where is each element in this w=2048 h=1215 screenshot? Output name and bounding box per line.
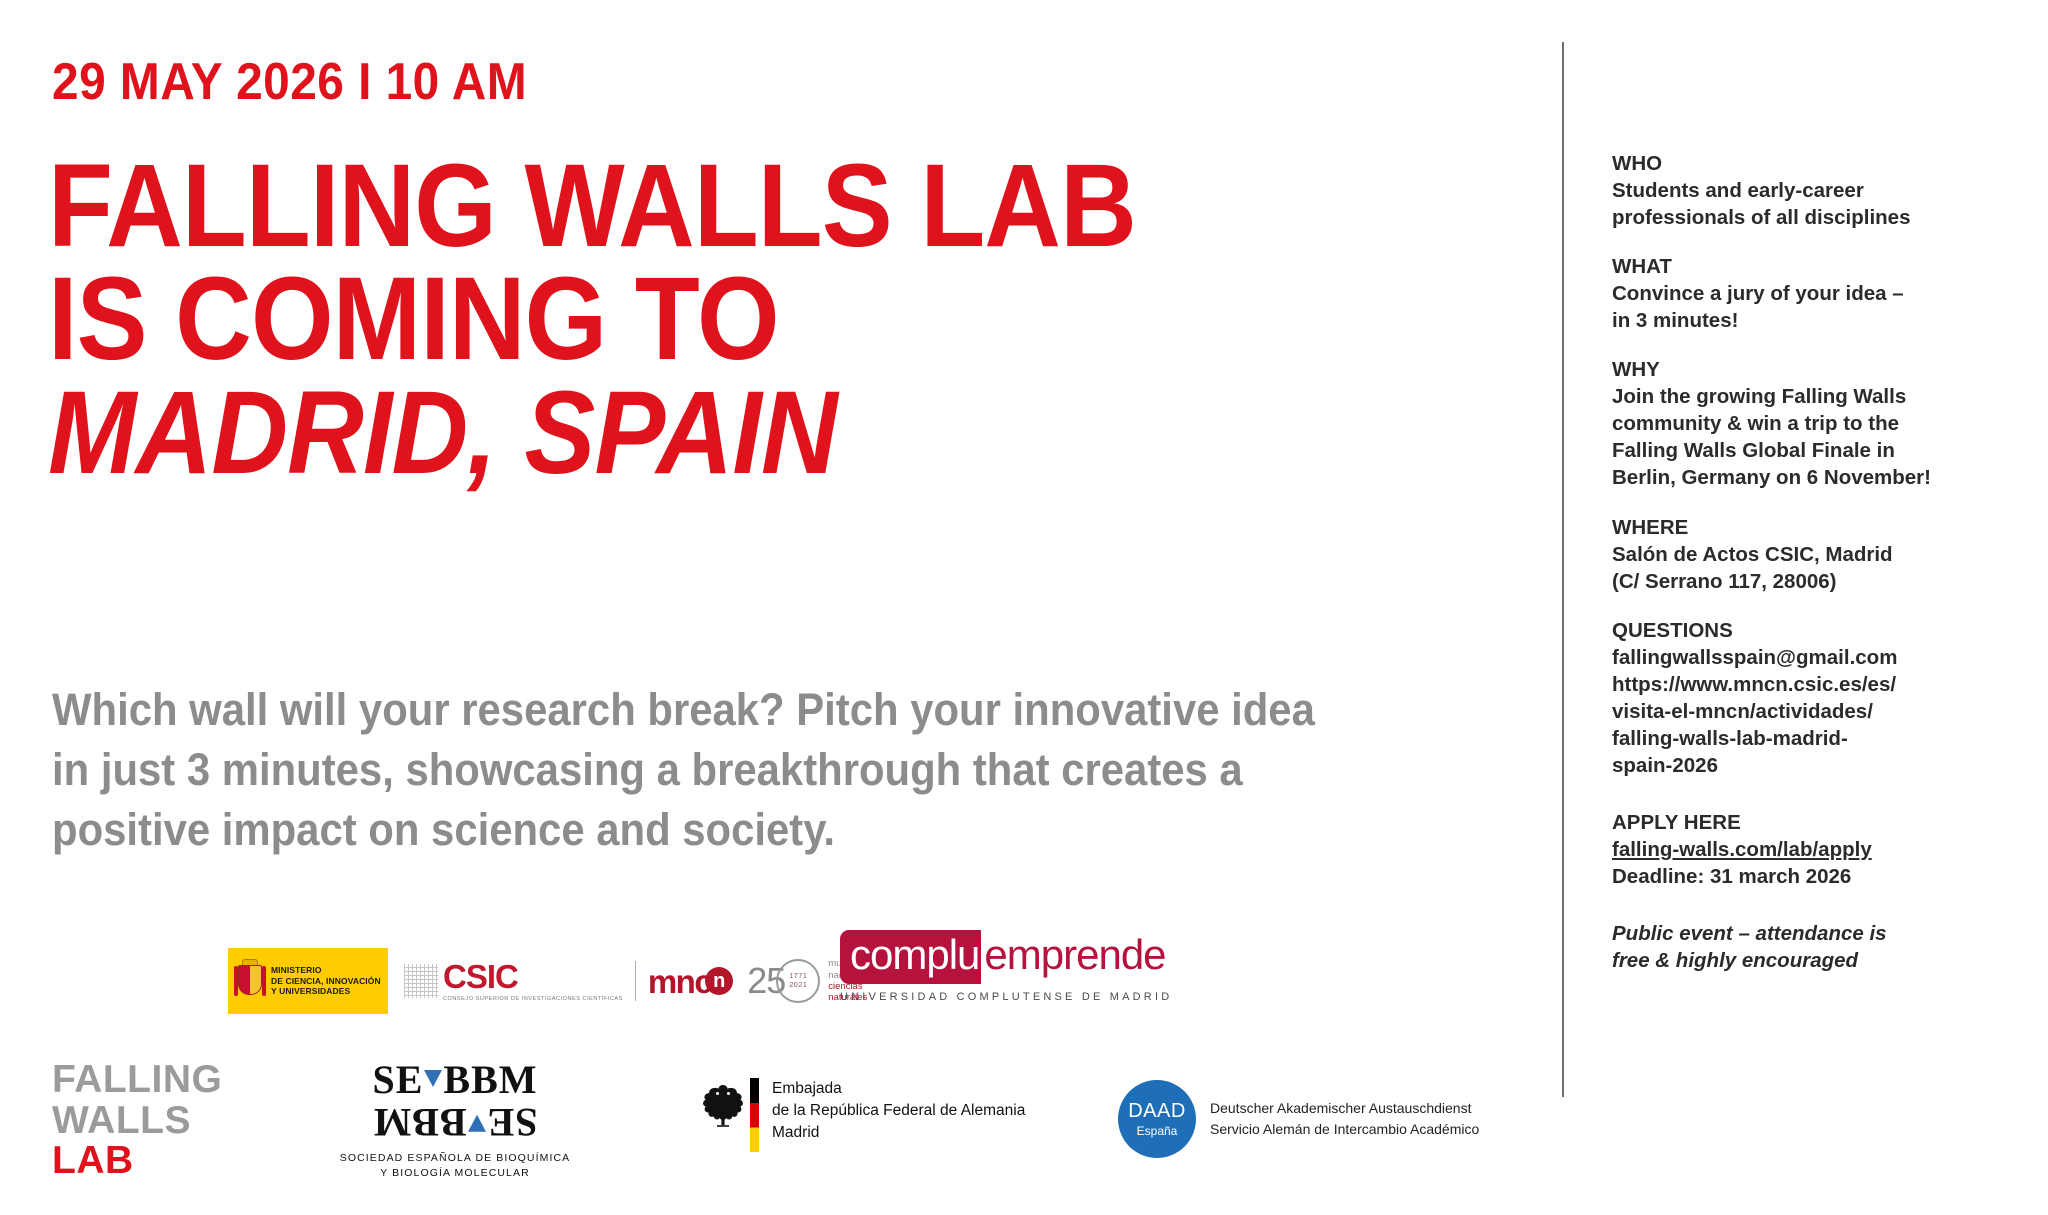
detail-block-apply: APPLY HERE falling-walls.com/lab/apply D… — [1612, 809, 2012, 890]
daad-text: Deutscher Akademischer Austauschdienst S… — [1210, 1098, 1479, 1140]
sebbm-triangle-icon-mirrored — [468, 1115, 486, 1132]
compluemprende-logo: complu emprende UNIVERSIDAD COMPLUTENSE … — [840, 930, 1172, 1003]
german-embassy-logo: Embajada de la República Federal de Alem… — [700, 1078, 1025, 1152]
sebbm-triangle-icon — [424, 1070, 442, 1087]
details-column: WHO Students and early-career profession… — [1612, 150, 2012, 996]
note-line-1: Public event – attendance is — [1612, 920, 2012, 947]
headline: FALLING WALLS LAB IS COMING TO MADRID, S… — [48, 150, 1348, 490]
ministerio-text: MINISTERIO DE CIENCIA, INNOVACIÓN Y UNIV… — [271, 965, 381, 997]
sebbm-subtitle: SOCIEDAD ESPAÑOLA DE BIOQUÍMICA Y BIOLOG… — [330, 1151, 580, 1183]
detail-line: Berlin, Germany on 6 November! — [1612, 464, 2012, 491]
embassy-line-2: de la República Federal de Alemania — [772, 1100, 1025, 1122]
falling-walls-lab-logo: FALLING WALLS LAB — [52, 1060, 222, 1182]
detail-heading: WHAT — [1612, 253, 2012, 280]
apply-heading: APPLY HERE — [1612, 809, 2012, 836]
fw-line-2: WALLS — [52, 1101, 222, 1142]
detail-line: Falling Walls Global Finale in — [1612, 437, 2012, 464]
detail-line: Convince a jury of your idea – — [1612, 280, 2012, 307]
anniversary-ring-icon: 1771 2021 — [776, 959, 820, 1003]
complu-part-2: emprende — [981, 930, 1165, 984]
detail-line: (C/ Serrano 117, 28006) — [1612, 568, 2012, 595]
sebbm-prefix-bottom: SE — [487, 1100, 538, 1145]
public-event-note: Public event – attendance is free & high… — [1612, 920, 2012, 974]
embassy-line-3: Madrid — [772, 1122, 1025, 1144]
detail-heading: WHY — [1612, 356, 2012, 383]
event-date: 29 MAY 2026 I 10 AM — [52, 52, 527, 112]
ministerio-line-2: DE CIENCIA, INNOVACIÓN — [271, 976, 381, 987]
logo-row-institutional: MINISTERIO DE CIENCIA, INNOVACIÓN Y UNIV… — [228, 948, 877, 1014]
detail-block-questions: QUESTIONS fallingwallsspain@gmail.com ht… — [1612, 617, 2012, 779]
embassy-line-1: Embajada — [772, 1078, 1025, 1100]
ministerio-line-3: Y UNIVERSIDADES — [271, 986, 381, 997]
detail-line: community & win a trip to the — [1612, 410, 2012, 437]
mncn-wordmark: mnc — [648, 965, 711, 998]
detail-line: professionals of all disciplines — [1612, 204, 2012, 231]
headline-line-1: FALLING WALLS LAB — [48, 150, 1218, 263]
fw-line-3: LAB — [52, 1141, 222, 1182]
detail-heading: QUESTIONS — [1612, 617, 2012, 644]
detail-block-why: WHY Join the growing Falling Walls commu… — [1612, 356, 2012, 491]
csic-logo: CSIC Consejo Superior de Investigaciones… — [404, 960, 623, 1002]
detail-line: Students and early-career — [1612, 177, 2012, 204]
sebbm-mark-top: SEBBM — [330, 1060, 580, 1101]
detail-block-what: WHAT Convince a jury of your idea – in 3… — [1612, 253, 2012, 334]
info-url-line[interactable]: falling-walls-lab-madrid- — [1612, 725, 2012, 752]
fw-line-1: FALLING — [52, 1060, 222, 1101]
anniversary-year-to: 2021 — [789, 981, 807, 990]
sebbm-logo: SEBBM SEBBM SOCIEDAD ESPAÑOLA DE BIOQUÍM… — [330, 1060, 580, 1182]
headline-line-3: MADRID, SPAIN — [48, 377, 1218, 490]
sebbm-suffix-top: BBM — [443, 1057, 537, 1102]
daad-line-2: Servicio Alemán de Intercambio Académico — [1210, 1119, 1479, 1140]
detail-block-who: WHO Students and early-career profession… — [1612, 150, 2012, 231]
sebbm-subtitle-line-1: SOCIEDAD ESPAÑOLA DE BIOQUÍMICA — [330, 1151, 580, 1167]
daad-line-1: Deutscher Akademischer Austauschdienst — [1210, 1098, 1479, 1119]
info-url-line[interactable]: visita-el-mncn/actividades/ — [1612, 698, 2012, 725]
detail-line: in 3 minutes! — [1612, 307, 2012, 334]
german-flag-bar-icon — [750, 1078, 759, 1152]
intro-paragraph: Which wall will your research break? Pit… — [52, 680, 1354, 860]
info-url-line[interactable]: spain-2026 — [1612, 752, 2012, 779]
detail-heading: WHERE — [1612, 514, 2012, 541]
sebbm-prefix-top: SE — [372, 1057, 423, 1102]
spain-coat-of-arms-icon — [234, 958, 266, 1004]
headline-line-2: IS COMING TO — [48, 263, 1218, 376]
csic-pattern-icon — [404, 964, 438, 998]
detail-block-where: WHERE Salón de Actos CSIC, Madrid (C/ Se… — [1612, 514, 2012, 595]
sebbm-mark-mirrored: SEBBM — [330, 1101, 580, 1142]
apply-link[interactable]: falling-walls.com/lab/apply — [1612, 836, 2012, 863]
daad-country: España — [1137, 1125, 1178, 1137]
daad-circle-icon: DAAD España — [1118, 1080, 1196, 1158]
sebbm-subtitle-line-2: Y BIOLOGÍA MOLECULAR — [330, 1166, 580, 1182]
poster: 29 MAY 2026 I 10 AM FALLING WALLS LAB IS… — [0, 0, 2048, 1215]
detail-line: Join the growing Falling Walls — [1612, 383, 2012, 410]
complu-subtitle: UNIVERSIDAD COMPLUTENSE DE MADRID — [840, 991, 1172, 1003]
complu-part-1: complu — [840, 930, 981, 984]
daad-acronym: DAAD — [1128, 1101, 1186, 1121]
left-column: 29 MAY 2026 I 10 AM FALLING WALLS LAB IS… — [0, 0, 1560, 1215]
info-url-line[interactable]: https://www.mncn.csic.es/es/ — [1612, 671, 2012, 698]
federal-eagle-icon — [700, 1080, 746, 1128]
note-line-2: free & highly encouraged — [1612, 947, 2012, 974]
csic-subtitle: Consejo Superior de Investigaciones Cien… — [443, 996, 623, 1002]
sebbm-suffix-bottom: BBM — [372, 1100, 466, 1145]
logo-divider — [635, 961, 636, 1001]
vertical-divider — [1562, 42, 1564, 1097]
apply-deadline: Deadline: 31 march 2026 — [1612, 863, 2012, 890]
embassy-text: Embajada de la República Federal de Alem… — [772, 1078, 1025, 1144]
ministerio-logo: MINISTERIO DE CIENCIA, INNOVACIÓN Y UNIV… — [228, 948, 388, 1014]
csic-wordmark: CSIC — [443, 960, 623, 993]
detail-heading: WHO — [1612, 150, 2012, 177]
daad-logo: DAAD España Deutscher Akademischer Austa… — [1118, 1080, 1479, 1158]
mncn-logo: mnc n — [648, 965, 733, 998]
detail-line: Salón de Actos CSIC, Madrid — [1612, 541, 2012, 568]
ministerio-line-1: MINISTERIO — [271, 965, 381, 976]
contact-email[interactable]: fallingwallsspain@gmail.com — [1612, 644, 2012, 671]
